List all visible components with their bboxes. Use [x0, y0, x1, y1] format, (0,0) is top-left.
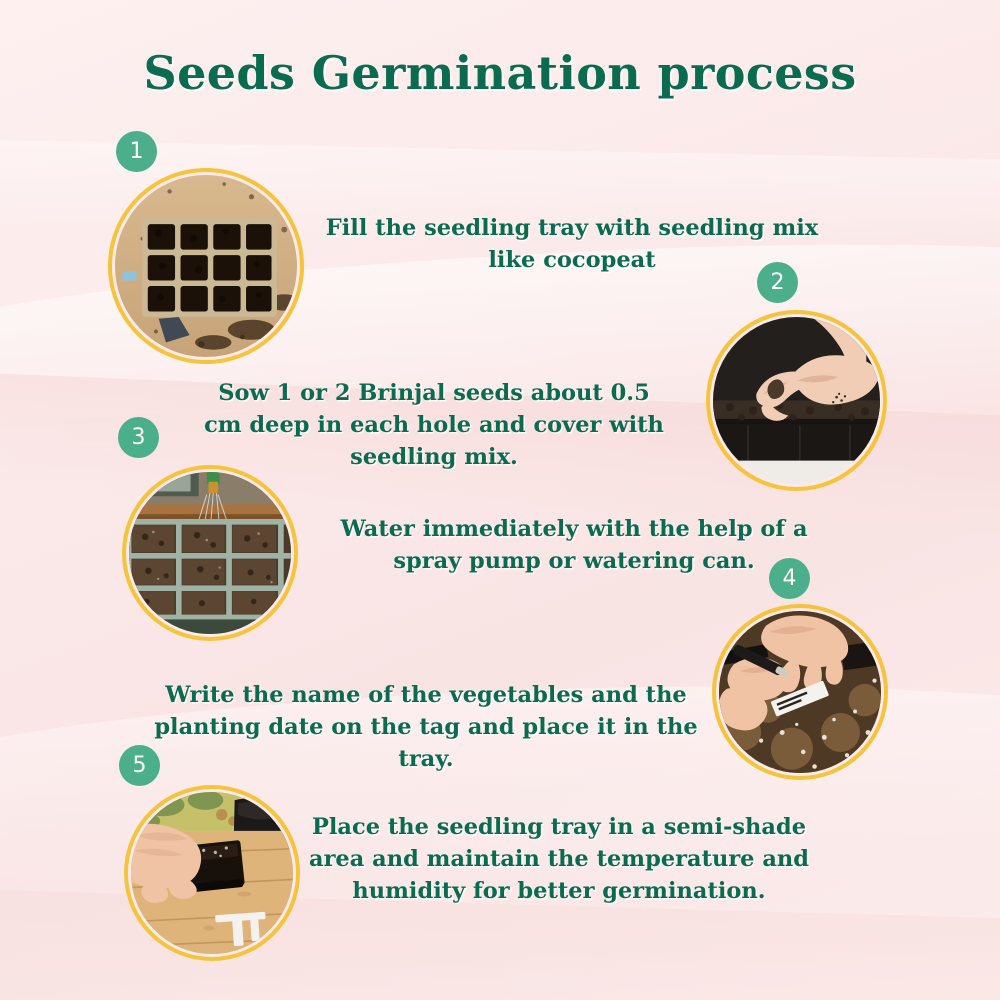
photo-writing-plant-tag [719, 611, 881, 773]
step-badge-5: 5 [119, 745, 160, 786]
step-text-3: Water immediately with the help of a spr… [314, 514, 834, 578]
photo-sowing-seeds [713, 317, 880, 484]
step-text-2: Sow 1 or 2 Brinjal seeds about 0.5 cm de… [196, 378, 672, 474]
photo-tray-on-bench [131, 792, 293, 954]
photo-watering-tray [129, 472, 291, 634]
step-text-5: Place the seedling tray in a semi-shade … [306, 812, 812, 908]
page-title: Seeds Germination process [0, 46, 1000, 100]
step-photo-5 [124, 785, 300, 961]
step-badge-3: 3 [118, 417, 159, 458]
step-text-1: Fill the seedling tray with seedling mix… [322, 213, 822, 277]
step-photo-1 [108, 168, 304, 364]
step-photo-3 [122, 465, 298, 641]
step-badge-1: 1 [116, 131, 157, 172]
photo-seedling-tray-cocopeat [115, 175, 297, 357]
step-photo-2 [706, 310, 887, 491]
step-badge-4: 4 [769, 558, 810, 599]
step-badge-2: 2 [757, 262, 798, 303]
infographic-canvas: Seeds Germination process 1 [0, 0, 1000, 1000]
step-photo-4 [712, 604, 888, 780]
step-text-4: Write the name of the vegetables and the… [148, 680, 704, 776]
